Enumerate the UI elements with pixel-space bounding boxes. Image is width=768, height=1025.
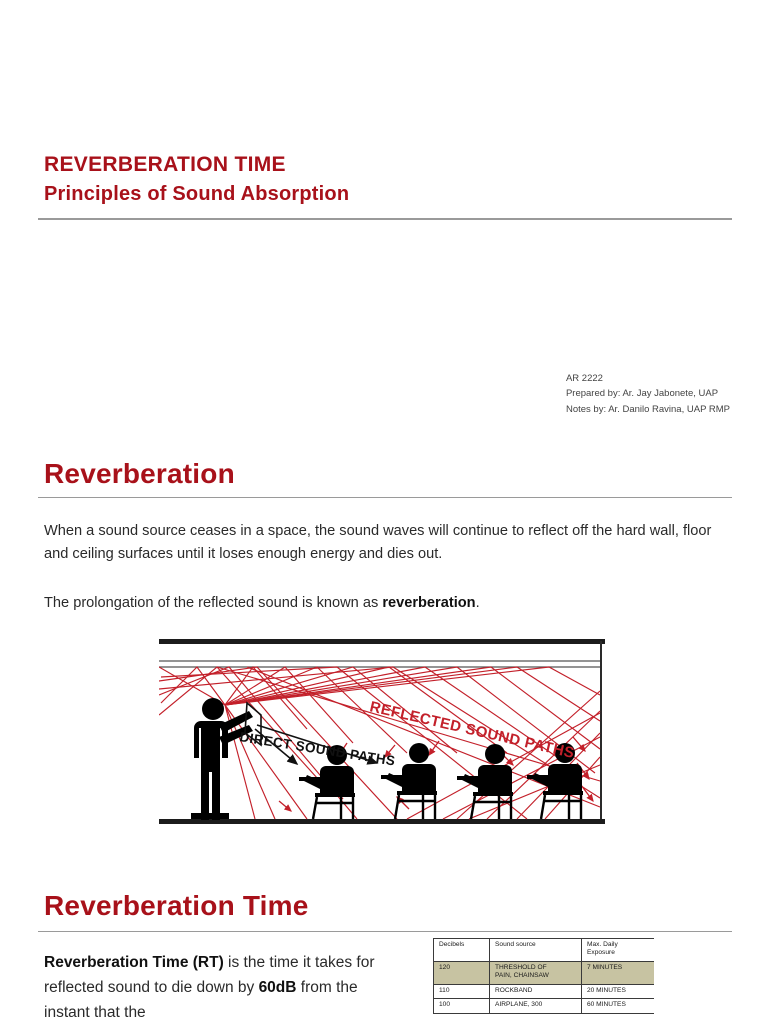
lecturer-figure <box>194 698 253 820</box>
section-heading-reverberation-time: Reverberation Time <box>44 890 309 922</box>
reverberation-divider <box>38 497 732 498</box>
table-header-row: Decibels Sound source Max. DailyExposure <box>434 939 655 962</box>
cell-decibels: 120 <box>434 961 490 984</box>
section-heading-reverberation: Reverberation <box>44 458 235 490</box>
header-decibels: Decibels <box>434 939 490 962</box>
cell-decibels: 110 <box>434 984 490 998</box>
rt-term: Reverberation Time (RT) <box>44 954 224 971</box>
decibel-table-container: Decibels Sound source Max. DailyExposure… <box>433 938 654 1024</box>
header-exposure-line2: Exposure <box>587 949 615 956</box>
decibel-exposure-table: Decibels Sound source Max. DailyExposure… <box>433 938 654 1014</box>
cell-sound-source: AIRPLANE, 300 <box>490 999 582 1013</box>
cell-exposure: 20 MINUTES <box>582 984 655 998</box>
table-row: 100 AIRPLANE, 300 60 MINUTES <box>434 999 655 1013</box>
cell-sound-source: THRESHOLD OFPAIN, CHAINSAW <box>490 961 582 984</box>
source-line-1: THRESHOLD OF <box>495 964 547 971</box>
paragraph-2-pre: The prolongation of the reflected sound … <box>44 595 382 611</box>
document-subtitle: Principles of Sound Absorption <box>44 180 734 208</box>
cell-decibels: 100 <box>434 999 490 1013</box>
paragraph-2-emphasis: reverberation <box>382 595 475 611</box>
meta-notes-by: Notes by: Ar. Danilo Ravina, UAP RMP <box>566 402 730 417</box>
document-meta: AR 2222 Prepared by: Ar. Jay Jabonete, U… <box>566 371 730 417</box>
cell-exposure: 60 MINUTES <box>582 999 655 1013</box>
rt-db: 60dB <box>259 979 297 996</box>
meta-course-code: AR 2222 <box>566 371 730 386</box>
direct-sound-paths-label: DIRECT SOUND PATHS <box>239 729 397 768</box>
table-row: 120 THRESHOLD OFPAIN, CHAINSAW 7 MINUTES <box>434 961 655 984</box>
reverberation-time-paragraph: Reverberation Time (RT) is the time it t… <box>44 950 389 1025</box>
document-page: REVERBERATION TIME Principles of Sound A… <box>0 0 768 1024</box>
header-max-daily-exposure: Max. DailyExposure <box>582 939 655 962</box>
reverberation-paragraph-2: The prolongation of the reflected sound … <box>44 592 716 615</box>
document-title: REVERBERATION TIME <box>44 150 734 180</box>
source-line-2: PAIN, CHAINSAW <box>495 972 549 979</box>
cell-exposure: 7 MINUTES <box>582 961 655 984</box>
title-divider <box>38 218 732 220</box>
table-row: 110 ROCKBAND 20 MINUTES <box>434 984 655 998</box>
lecturer-base <box>191 813 229 819</box>
paragraph-2-post: . <box>476 595 480 611</box>
cell-sound-source: ROCKBAND <box>490 984 582 998</box>
title-block: REVERBERATION TIME Principles of Sound A… <box>44 150 734 208</box>
reverberation-time-divider <box>38 931 732 932</box>
reverberation-paragraph-1: When a sound source ceases in a space, t… <box>44 520 716 566</box>
meta-prepared-by: Prepared by: Ar. Jay Jabonete, UAP <box>566 386 730 401</box>
header-exposure-line1: Max. Daily <box>587 941 618 948</box>
sound-paths-diagram: DIRECT SOUND PATHS REFLECTED SOUND PATHS <box>157 633 609 833</box>
header-sound-source: Sound source <box>490 939 582 962</box>
